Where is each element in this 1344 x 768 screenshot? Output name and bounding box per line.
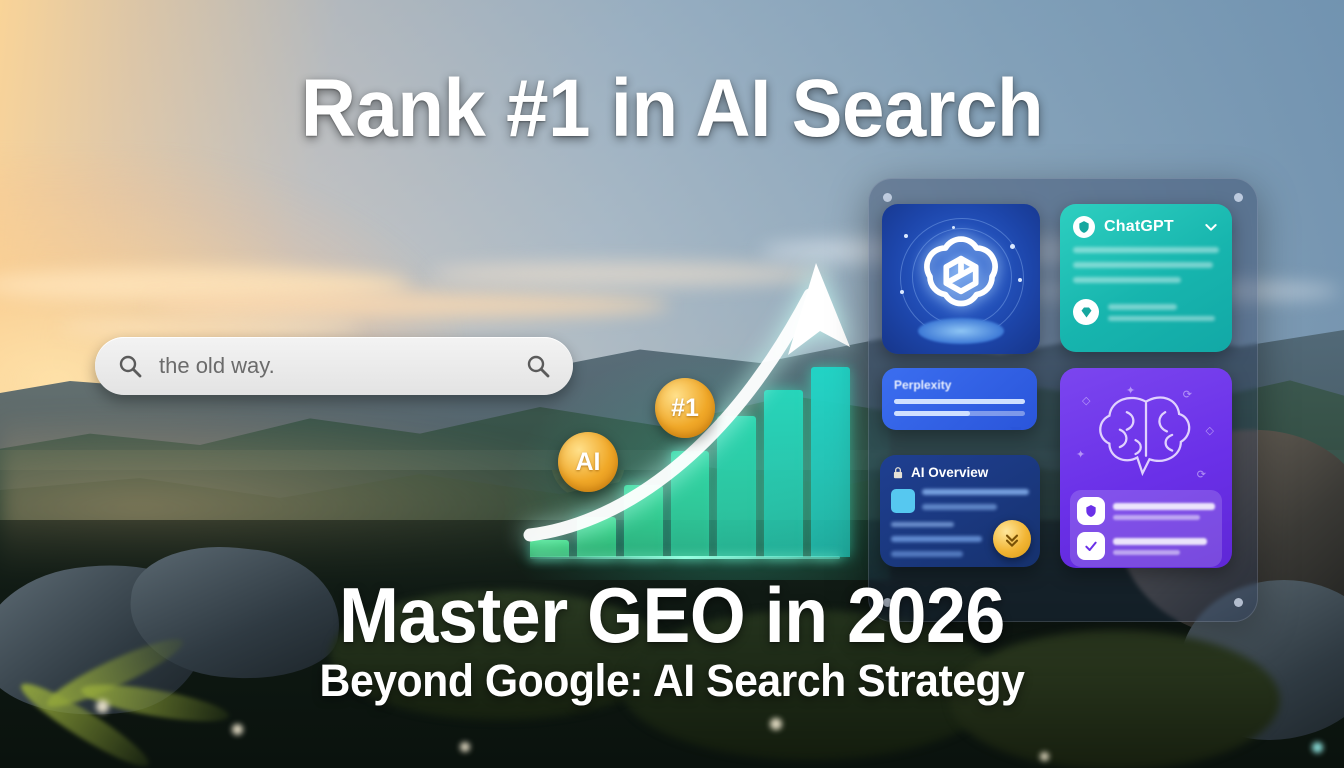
ai-brain-card[interactable]: ◇ ✦ ⟳ ◇ ✦ ⟳ — [1060, 368, 1232, 568]
search-input[interactable]: the old way. — [159, 353, 525, 379]
star — [1018, 278, 1022, 282]
sub-headline: Beyond Google: AI Search Strategy — [34, 655, 1311, 707]
list-item-subtext — [1113, 550, 1180, 555]
diamond-icon — [1073, 299, 1099, 325]
list-item[interactable] — [1077, 532, 1215, 560]
bokeh-light — [1312, 742, 1323, 753]
search-icon — [117, 353, 143, 379]
shield-icon — [1077, 497, 1105, 525]
progress-bar — [894, 399, 1025, 404]
placeholder-line — [891, 551, 963, 557]
chatgpt-card-subitem[interactable] — [1073, 299, 1219, 325]
list-item-subtext — [1113, 515, 1200, 520]
lock-icon — [891, 466, 905, 480]
ai-overview-card-title: AI Overview — [911, 465, 988, 480]
ai-badge-label: AI — [576, 448, 601, 477]
result-thumbnail — [891, 489, 915, 513]
progress-bar — [894, 411, 1025, 416]
placeholder-line — [1108, 304, 1177, 310]
shield-check-icon — [1073, 216, 1095, 238]
perplexity-card-title: Perplexity — [894, 378, 1025, 392]
openai-card[interactable] — [882, 204, 1040, 354]
openai-logo-icon — [912, 226, 1010, 324]
chart-baseline — [530, 556, 840, 559]
placeholder-line — [891, 522, 954, 527]
bokeh-light — [1040, 752, 1049, 761]
list-item-label — [1113, 538, 1207, 545]
pedestal-glow — [918, 318, 1004, 344]
ai-badge: AI — [558, 432, 618, 492]
check-icon — [1077, 532, 1105, 560]
panel-dot — [1234, 193, 1243, 202]
placeholder-line — [1073, 247, 1219, 253]
chatgpt-card[interactable]: ChatGPT — [1060, 204, 1232, 352]
brain-illustration: ◇ ✦ ⟳ ◇ ✦ ⟳ — [1070, 378, 1222, 490]
brain-card-list — [1070, 490, 1222, 567]
cloud — [60, 318, 360, 336]
brain-icon — [1085, 382, 1207, 486]
star — [1010, 244, 1015, 249]
placeholder-line — [922, 504, 997, 510]
placeholder-line — [922, 489, 1029, 495]
list-item-label — [1113, 503, 1215, 510]
ai-overview-card-header: AI Overview — [891, 465, 1029, 480]
bokeh-light — [460, 742, 470, 752]
placeholder-line — [1073, 277, 1181, 283]
placeholder-line — [1073, 262, 1213, 268]
main-headline: Master GEO in 2026 — [54, 570, 1290, 661]
promo-banner: Rank #1 in AI Search the old way. #1 AI — [0, 0, 1344, 768]
rank-badge: #1 — [655, 378, 715, 438]
rank-badge-label: #1 — [671, 394, 699, 423]
bokeh-light — [770, 718, 782, 730]
placeholder-line — [1108, 316, 1215, 321]
list-item[interactable] — [1077, 497, 1215, 525]
chatgpt-card-title: ChatGPT — [1104, 218, 1194, 236]
star — [900, 290, 904, 294]
page-title: Rank #1 in AI Search — [47, 62, 1297, 156]
chatgpt-card-header: ChatGPT — [1073, 216, 1219, 238]
ai-overview-result-row — [891, 489, 1029, 513]
double-chevron-down-icon — [993, 520, 1031, 558]
bokeh-light — [232, 724, 243, 735]
perplexity-card[interactable]: Perplexity — [882, 368, 1037, 430]
ai-overview-card[interactable]: AI Overview — [880, 455, 1040, 567]
star — [904, 234, 908, 238]
placeholder-line — [891, 536, 982, 542]
panel-dot — [883, 193, 892, 202]
chevron-down-icon[interactable] — [1203, 219, 1219, 235]
